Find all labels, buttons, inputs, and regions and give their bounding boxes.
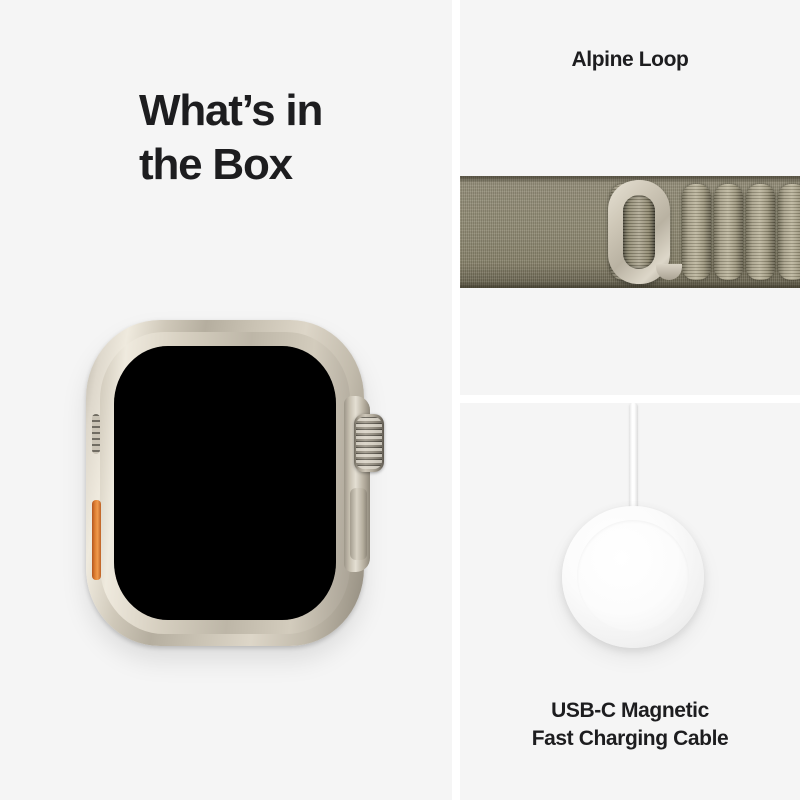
- magnetic-charger-puck: [562, 506, 704, 648]
- charger-puck-face: [577, 520, 689, 632]
- page-title: What’s in the Box: [139, 84, 419, 191]
- alpine-loop-caption: Alpine Loop: [460, 46, 800, 74]
- cable-cord: [629, 403, 638, 519]
- watch-display: [114, 346, 336, 620]
- watch-case: [86, 320, 364, 646]
- digital-crown-ridges: [356, 417, 382, 469]
- band-loop: [714, 184, 743, 280]
- alpine-loop-band-image: [460, 176, 800, 288]
- apple-watch-ultra-image: [78, 318, 378, 648]
- action-button: [92, 500, 101, 580]
- charging-cable-caption: USB-C Magnetic Fast Charging Cable: [460, 697, 800, 754]
- digital-crown: [354, 414, 384, 472]
- side-button: [350, 488, 367, 560]
- band-loop: [746, 184, 775, 280]
- speaker-grille-icon: [92, 414, 100, 454]
- band-loop: [682, 184, 711, 280]
- watch-panel: What’s in the Box: [0, 0, 452, 800]
- alpine-loop-panel: Alpine Loop: [460, 0, 800, 395]
- g-hook-slot: [623, 195, 655, 269]
- band-loop: [778, 184, 800, 280]
- whats-in-the-box-graphic: What’s in the Box Alpine Loop: [0, 0, 800, 800]
